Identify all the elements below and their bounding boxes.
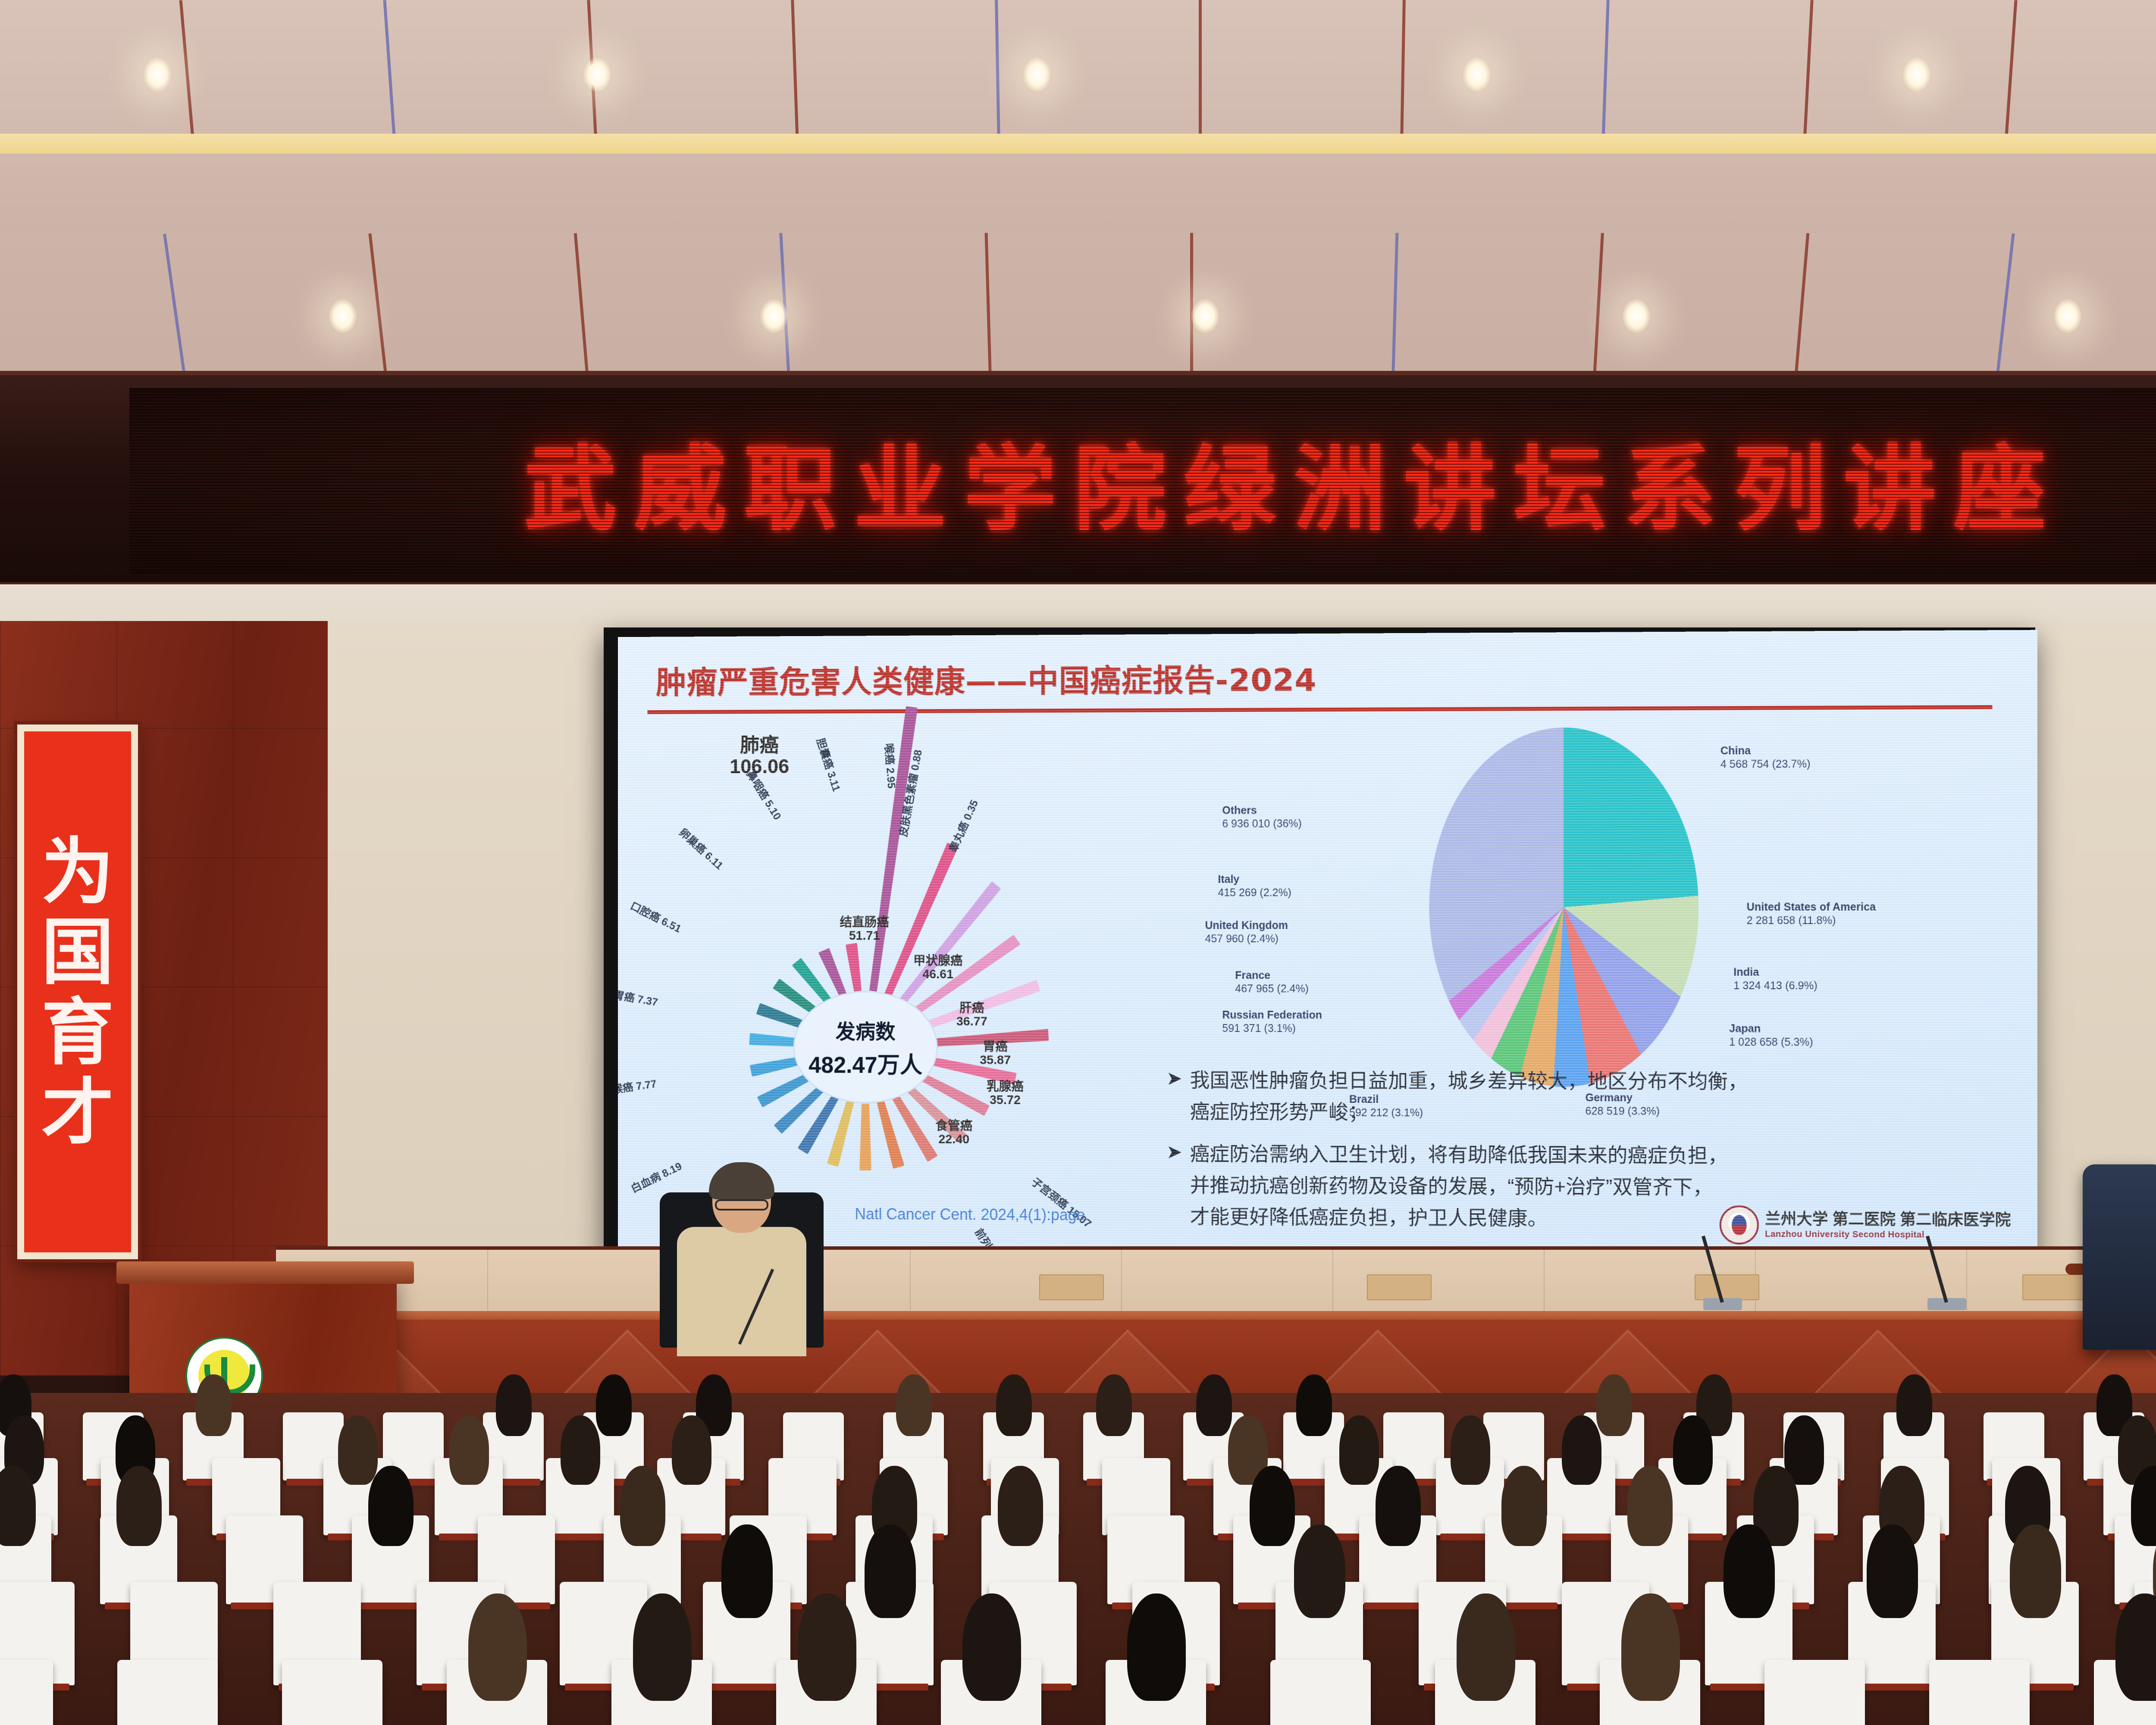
ceiling-downlight xyxy=(142,56,172,93)
pie-slice-value: 1 324 413 (6.9%) xyxy=(1733,979,1818,991)
pie-slice-name: India xyxy=(1733,966,1818,979)
pie-slice-callout: Japan1 028 658 (5.3%) xyxy=(1729,1022,1813,1049)
ceiling-rib xyxy=(1400,0,1406,142)
audience-member xyxy=(1127,1593,1186,1701)
couplet-left-char-2: 育 xyxy=(41,996,114,1068)
audience-chair xyxy=(1270,1660,1371,1725)
pie-slice-value: 2 281 658 (11.8%) xyxy=(1747,914,1836,926)
audience-member xyxy=(996,1374,1032,1436)
audience-chair xyxy=(282,1660,382,1725)
audience-member xyxy=(1724,1524,1775,1618)
hospital-logo-name-cn: 兰州大学 第二医院 第二临床医学院 xyxy=(1765,1211,2011,1228)
audience-member xyxy=(620,1466,665,1546)
audience-member xyxy=(468,1593,527,1701)
rose-major-label: 肺癌106.06 xyxy=(707,734,812,777)
rose-major-label: 甲状腺癌46.61 xyxy=(892,955,984,982)
rose-major-label: 肝癌36.77 xyxy=(936,1002,1008,1029)
pie-slice-name: United States of America xyxy=(1747,900,1876,914)
slide-title: 肿瘤严重危害人类健康——中国癌症报告-2024 xyxy=(656,654,1316,702)
audience-member xyxy=(1562,1415,1601,1485)
ceiling-upper xyxy=(0,0,2156,241)
pie-slice-value: 457 960 (2.4%) xyxy=(1205,933,1279,945)
audience-member xyxy=(865,1524,916,1618)
audience-member xyxy=(596,1374,632,1436)
rose-minor-label: 口腔癌 6.51 xyxy=(628,897,684,936)
audience-member xyxy=(116,1466,162,1546)
ceiling-cove-band-1 xyxy=(0,134,2156,154)
pie-slice-callout: France467 965 (2.4%) xyxy=(1235,969,1309,995)
bullet-line: 并推动抗癌创新药物及设备的发展，“预防+治疗”双管齐下， xyxy=(1190,1170,1728,1203)
arrow-bullet-icon: ➤ xyxy=(1166,1138,1182,1232)
pie-slice-value: 1 028 658 (5.3%) xyxy=(1729,1036,1813,1048)
pie-slice-callout: China4 568 754 (23.7%) xyxy=(1720,744,1811,771)
rose-minor-label: 睾丸癌 0.35 xyxy=(945,797,981,855)
audience-member xyxy=(1896,1374,1932,1436)
couplet-banner-left: 为国育才 xyxy=(17,724,138,1259)
hospital-logo-mark-icon xyxy=(1720,1205,1759,1245)
audience-member xyxy=(896,1374,932,1436)
audience-member xyxy=(1673,1415,1713,1485)
ceiling-downlight xyxy=(1022,56,1052,93)
pie-slice-callout: Russian Federation591 371 (3.1%) xyxy=(1222,1009,1322,1035)
rose-minor-label: 卵巢癌 6.11 xyxy=(677,825,727,873)
pie-slice-value: 415 269 (2.2%) xyxy=(1218,887,1291,899)
pie-slice-name: Japan xyxy=(1729,1022,1813,1035)
pie-slice-callout: United Kingdom457 960 (2.4%) xyxy=(1205,919,1288,945)
audience-member xyxy=(721,1524,773,1618)
audience-member xyxy=(196,1374,232,1436)
audience-member xyxy=(1250,1466,1295,1546)
rose-minor-label: 喉癌 7.77 xyxy=(618,1075,657,1097)
dais-nameplate xyxy=(1039,1274,1104,1300)
ceiling-rib xyxy=(791,0,799,142)
pie-slice-callout: Others6 936 010 (36%) xyxy=(1222,804,1301,830)
lectern-top xyxy=(116,1261,414,1284)
rose-chart-center-label: 发病数 482.47万人 xyxy=(793,991,938,1104)
dais-nameplate xyxy=(1695,1274,1759,1300)
pie-slice-value: 467 965 (2.4%) xyxy=(1235,982,1309,994)
audience-member xyxy=(1867,1524,1918,1618)
slide-citation: Natl Cancer Cent. 2024,4(1):page. xyxy=(855,1205,1089,1224)
dais-nameplate xyxy=(2022,1274,2087,1300)
ceiling-rib xyxy=(383,0,396,142)
couplet-left-char-1: 国 xyxy=(41,916,114,988)
rose-major-label: 乳腺癌35.72 xyxy=(965,1080,1046,1107)
pie-slice-value: 591 371 (3.1%) xyxy=(1222,1022,1296,1034)
pie-slice-name: United Kingdom xyxy=(1205,919,1288,932)
rose-minor-label: 胆囊癌 3.11 xyxy=(814,736,845,793)
bullet-line: 癌症防控形势严峻； xyxy=(1190,1096,1748,1129)
audience-member xyxy=(496,1374,532,1436)
pie-slice-name: Russian Federation xyxy=(1222,1009,1322,1022)
audience-member xyxy=(1294,1524,1345,1618)
ceiling-downlight xyxy=(1190,298,1220,335)
audience-member xyxy=(1621,1593,1680,1701)
ceiling-rib xyxy=(179,0,195,142)
ceiling-rib xyxy=(995,0,1000,142)
audience-member xyxy=(338,1415,378,1485)
rose-center-title: 发病数 xyxy=(836,1015,896,1044)
bullet-item: ➤ 我国恶性肿瘤负担日益加重，城乡差异较大，地区分布不均衡， 癌症防控形势严峻； xyxy=(1166,1064,2037,1129)
audience-member xyxy=(633,1593,692,1701)
hospital-logo: 兰州大学 第二医院 第二临床医学院 Lanzhou University Sec… xyxy=(1720,1205,2011,1246)
audience-chair xyxy=(0,1660,53,1725)
audience-member xyxy=(1376,1466,1421,1546)
audience-member xyxy=(1339,1415,1379,1485)
audience-member xyxy=(449,1415,489,1485)
led-banner-screen: 武威职业学院绿洲讲坛系列讲座 xyxy=(129,388,2156,574)
audience-member xyxy=(1096,1374,1132,1436)
ceiling-rib xyxy=(1803,0,1813,142)
pie-slice-callout: Italy415 269 (2.2%) xyxy=(1218,873,1291,899)
audience-chair xyxy=(1764,1660,1865,1725)
side-chair xyxy=(2083,1164,2156,1350)
led-banner-text: 武威职业学院绿洲讲坛系列讲座 xyxy=(524,414,2063,548)
audience-member xyxy=(1457,1593,1515,1701)
audience-member xyxy=(962,1593,1021,1701)
ceiling-downlight xyxy=(582,56,612,93)
audience-chair xyxy=(117,1660,218,1725)
pie-slice-name: China xyxy=(1720,744,1811,757)
audience-member xyxy=(2010,1524,2061,1618)
ceiling-downlight xyxy=(328,298,358,335)
audience-member xyxy=(798,1593,856,1701)
speaker-hair xyxy=(709,1162,774,1199)
dais-nameplate xyxy=(1367,1274,1432,1300)
pie-chart-body xyxy=(1429,727,1698,1087)
pie-slice-value: 6 936 010 (36%) xyxy=(1222,818,1301,830)
pie-slice-callout: India1 324 413 (6.9%) xyxy=(1733,966,1818,992)
speaker-at-dais xyxy=(673,1167,811,1348)
hospital-logo-name-en: Lanzhou University Second Hospital xyxy=(1765,1229,2011,1240)
ceiling-downlight xyxy=(759,298,789,335)
ceiling-downlight xyxy=(2053,298,2083,335)
audience-member xyxy=(1596,1374,1632,1436)
couplet-left-char-3: 才 xyxy=(41,1076,114,1148)
pie-slice-callout: United States of America2 281 658 (11.8%… xyxy=(1747,900,1876,927)
ceiling-downlight xyxy=(1902,56,1932,93)
audience-member xyxy=(368,1466,414,1546)
rose-chart-incidence: 子宫颈癌 15.07前列腺癌 13.42胰腺癌 11.87膀胱癌 9.29脑瘤 … xyxy=(643,720,1192,1220)
bullet-line: 才能更好降低癌症负担，护卫人民健康。 xyxy=(1190,1201,1728,1234)
pie-slice-name: France xyxy=(1235,969,1309,982)
ceiling-downlight xyxy=(1621,298,1651,335)
pie-slice-name: Others xyxy=(1222,804,1301,817)
audience-member xyxy=(1296,1374,1332,1436)
pie-slice-name: Italy xyxy=(1218,873,1291,886)
rose-major-label: 食管癌22.40 xyxy=(918,1120,990,1147)
rose-major-label: 胃癌35.87 xyxy=(959,1041,1031,1068)
presentation-slide: 肿瘤严重危害人类健康——中国癌症报告-2024 子宫颈癌 15.07前列腺癌 1… xyxy=(618,630,2037,1255)
projection-screen-frame: 肿瘤严重危害人类健康——中国癌症报告-2024 子宫颈癌 15.07前列腺癌 1… xyxy=(604,627,2035,1257)
ceiling-rib xyxy=(1199,0,1202,142)
rose-major-label: 结直肠癌51.71 xyxy=(819,916,910,943)
pie-slice-value: 4 568 754 (23.7%) xyxy=(1720,758,1811,770)
speaker-glasses-icon xyxy=(715,1199,768,1211)
bullet-line: 我国恶性肿瘤负担日益加重，城乡差异较大，地区分布不均衡， xyxy=(1190,1064,1748,1097)
rose-center-value: 482.47万人 xyxy=(808,1047,922,1079)
bullet-line: 癌症防治需纳入卫生计划，将有助降低我国未来的癌症负担， xyxy=(1190,1138,1728,1171)
audience-member xyxy=(561,1415,600,1485)
audience-member xyxy=(998,1466,1043,1546)
ceiling-downlight xyxy=(1462,56,1492,93)
lecture-hall-photo: 武威职业学院绿洲讲坛系列讲座 为国育才 为党育人 肿瘤严重危害人类健康——中国癌… xyxy=(0,0,2156,1725)
audience-chair xyxy=(1929,1660,2030,1725)
audience-member xyxy=(1451,1415,1490,1485)
audience-member xyxy=(1501,1466,1547,1546)
audience-member xyxy=(1627,1466,1673,1546)
audience-member xyxy=(672,1415,711,1485)
ceiling-rib xyxy=(2004,0,2017,142)
ceiling-rib xyxy=(1601,0,1610,142)
arrow-bullet-icon: ➤ xyxy=(1166,1064,1182,1127)
led-banner-wall: 武威职业学院绿洲讲坛系列讲座 xyxy=(0,371,2156,586)
rose-minor-label: 喉癌 2.95 xyxy=(882,743,900,789)
couplet-left-char-0: 为 xyxy=(41,835,114,908)
audience-member xyxy=(1196,1374,1232,1436)
rose-minor-label: 胃癌 7.37 xyxy=(618,987,659,1010)
